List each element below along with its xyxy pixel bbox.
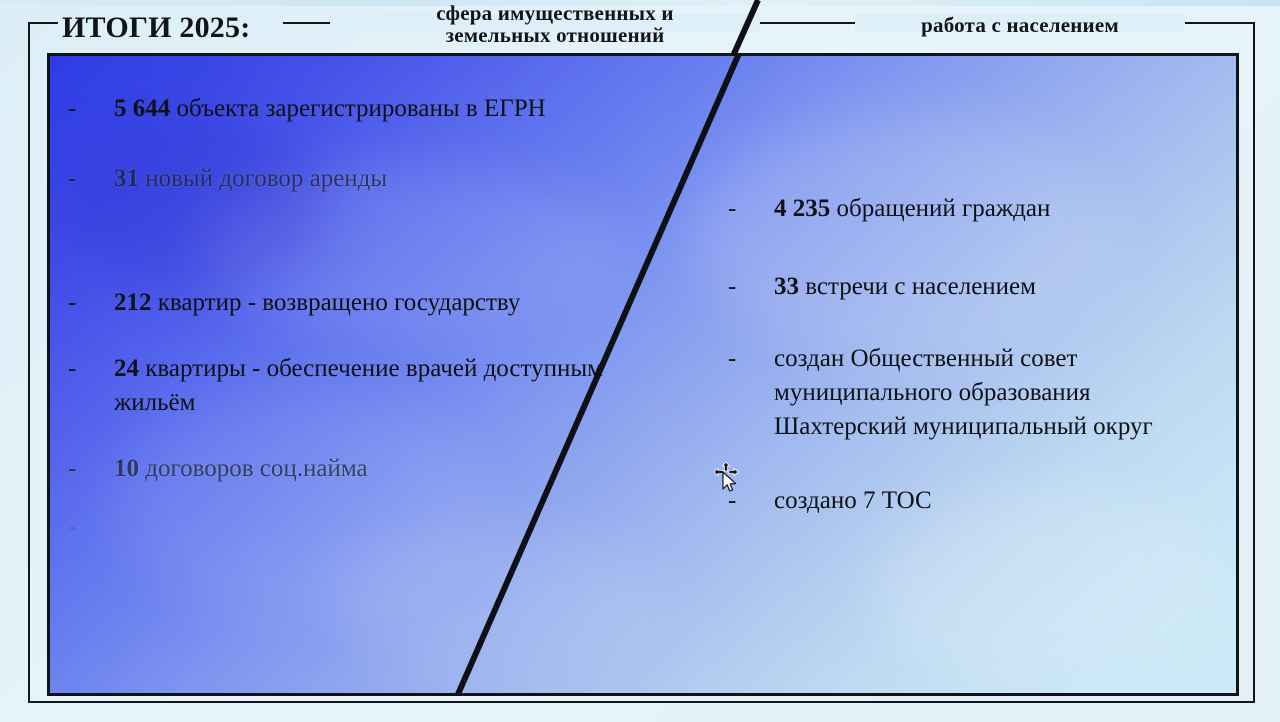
list-item-body: 33 встречи с населением [774,270,1228,304]
bullet-dash: - [68,286,114,320]
list-item: - 24 квартиры - обеспечение врачей досту… [68,352,668,420]
list-item-body: 10 договоров соц.найма [114,452,668,486]
metric-value: 31 [114,165,139,192]
list-item: - создано 7 ТОС [728,484,1228,518]
metric-label: встречи с населением [799,273,1036,300]
diagonal-divider-extension [700,0,780,56]
metric-label: договоров соц.найма [139,455,368,482]
left-bullet-list: - 5 644 объекта зарегистрированы в ЕГРН … [68,92,668,544]
section-title-property: сфера имущественных и земельных отношени… [355,2,755,46]
list-item-body: 4 235 обращений граждан [774,192,1228,226]
list-item-body: создан Общественный совет муниципального… [774,342,1228,444]
bullet-dash: - [68,92,114,126]
page-title: ИТОГИ 2025: [62,12,250,44]
list-item-empty: - [68,510,668,544]
bullet-dash: - [728,270,774,304]
list-item: - создан Общественный совет муниципально… [728,342,1228,444]
list-item: - 5 644 объекта зарегистрированы в ЕГРН [68,92,668,126]
metric-label: квартиры - обеспечение врачей доступным … [114,355,603,416]
bullet-dash: - [68,352,114,386]
bullet-dash: - [68,510,114,544]
metric-label: обращений граждан [830,195,1050,222]
metric-value: 212 [114,289,152,316]
list-item-body: создано 7 ТОС [774,484,1228,518]
list-item: - 31 новый договор аренды [68,162,668,196]
list-item-body: 5 644 объекта зарегистрированы в ЕГРН [114,92,668,126]
cloud-texture [330,526,660,676]
metric-label: новый договор аренды [139,165,387,192]
list-item-body: 24 квартиры - обеспечение врачей доступн… [114,352,668,420]
bullet-dash: - [68,452,114,486]
bullet-dash: - [68,162,114,196]
list-item-body: 31 новый договор аренды [114,162,668,196]
list-item: - 33 встречи с населением [728,270,1228,304]
list-item-body: 212 квартир - возвращено государству [114,286,668,320]
metric-label: объекта зарегистрированы в ЕГРН [170,95,545,122]
list-item: - 4 235 обращений граждан [728,192,1228,226]
metric-value: 24 [114,355,139,382]
metric-value: 10 [114,455,139,482]
bullet-dash: - [728,192,774,226]
list-item: - 10 договоров соц.найма [68,452,668,486]
metric-value: 5 644 [114,95,170,122]
slide-canvas: ИТОГИ 2025: сфера имущественных и земель… [0,0,1280,722]
right-bullet-list: - 4 235 обращений граждан - 33 встречи с… [728,192,1228,518]
list-item: - 212 квартир - возвращено государству [68,286,668,320]
bullet-dash: - [728,342,774,376]
metric-value: 4 235 [774,195,830,222]
bullet-dash: - [728,484,774,518]
metric-value: 33 [774,273,799,300]
metric-label: квартир - возвращено государству [152,289,521,316]
section-title-population: работа с населением [855,14,1185,36]
